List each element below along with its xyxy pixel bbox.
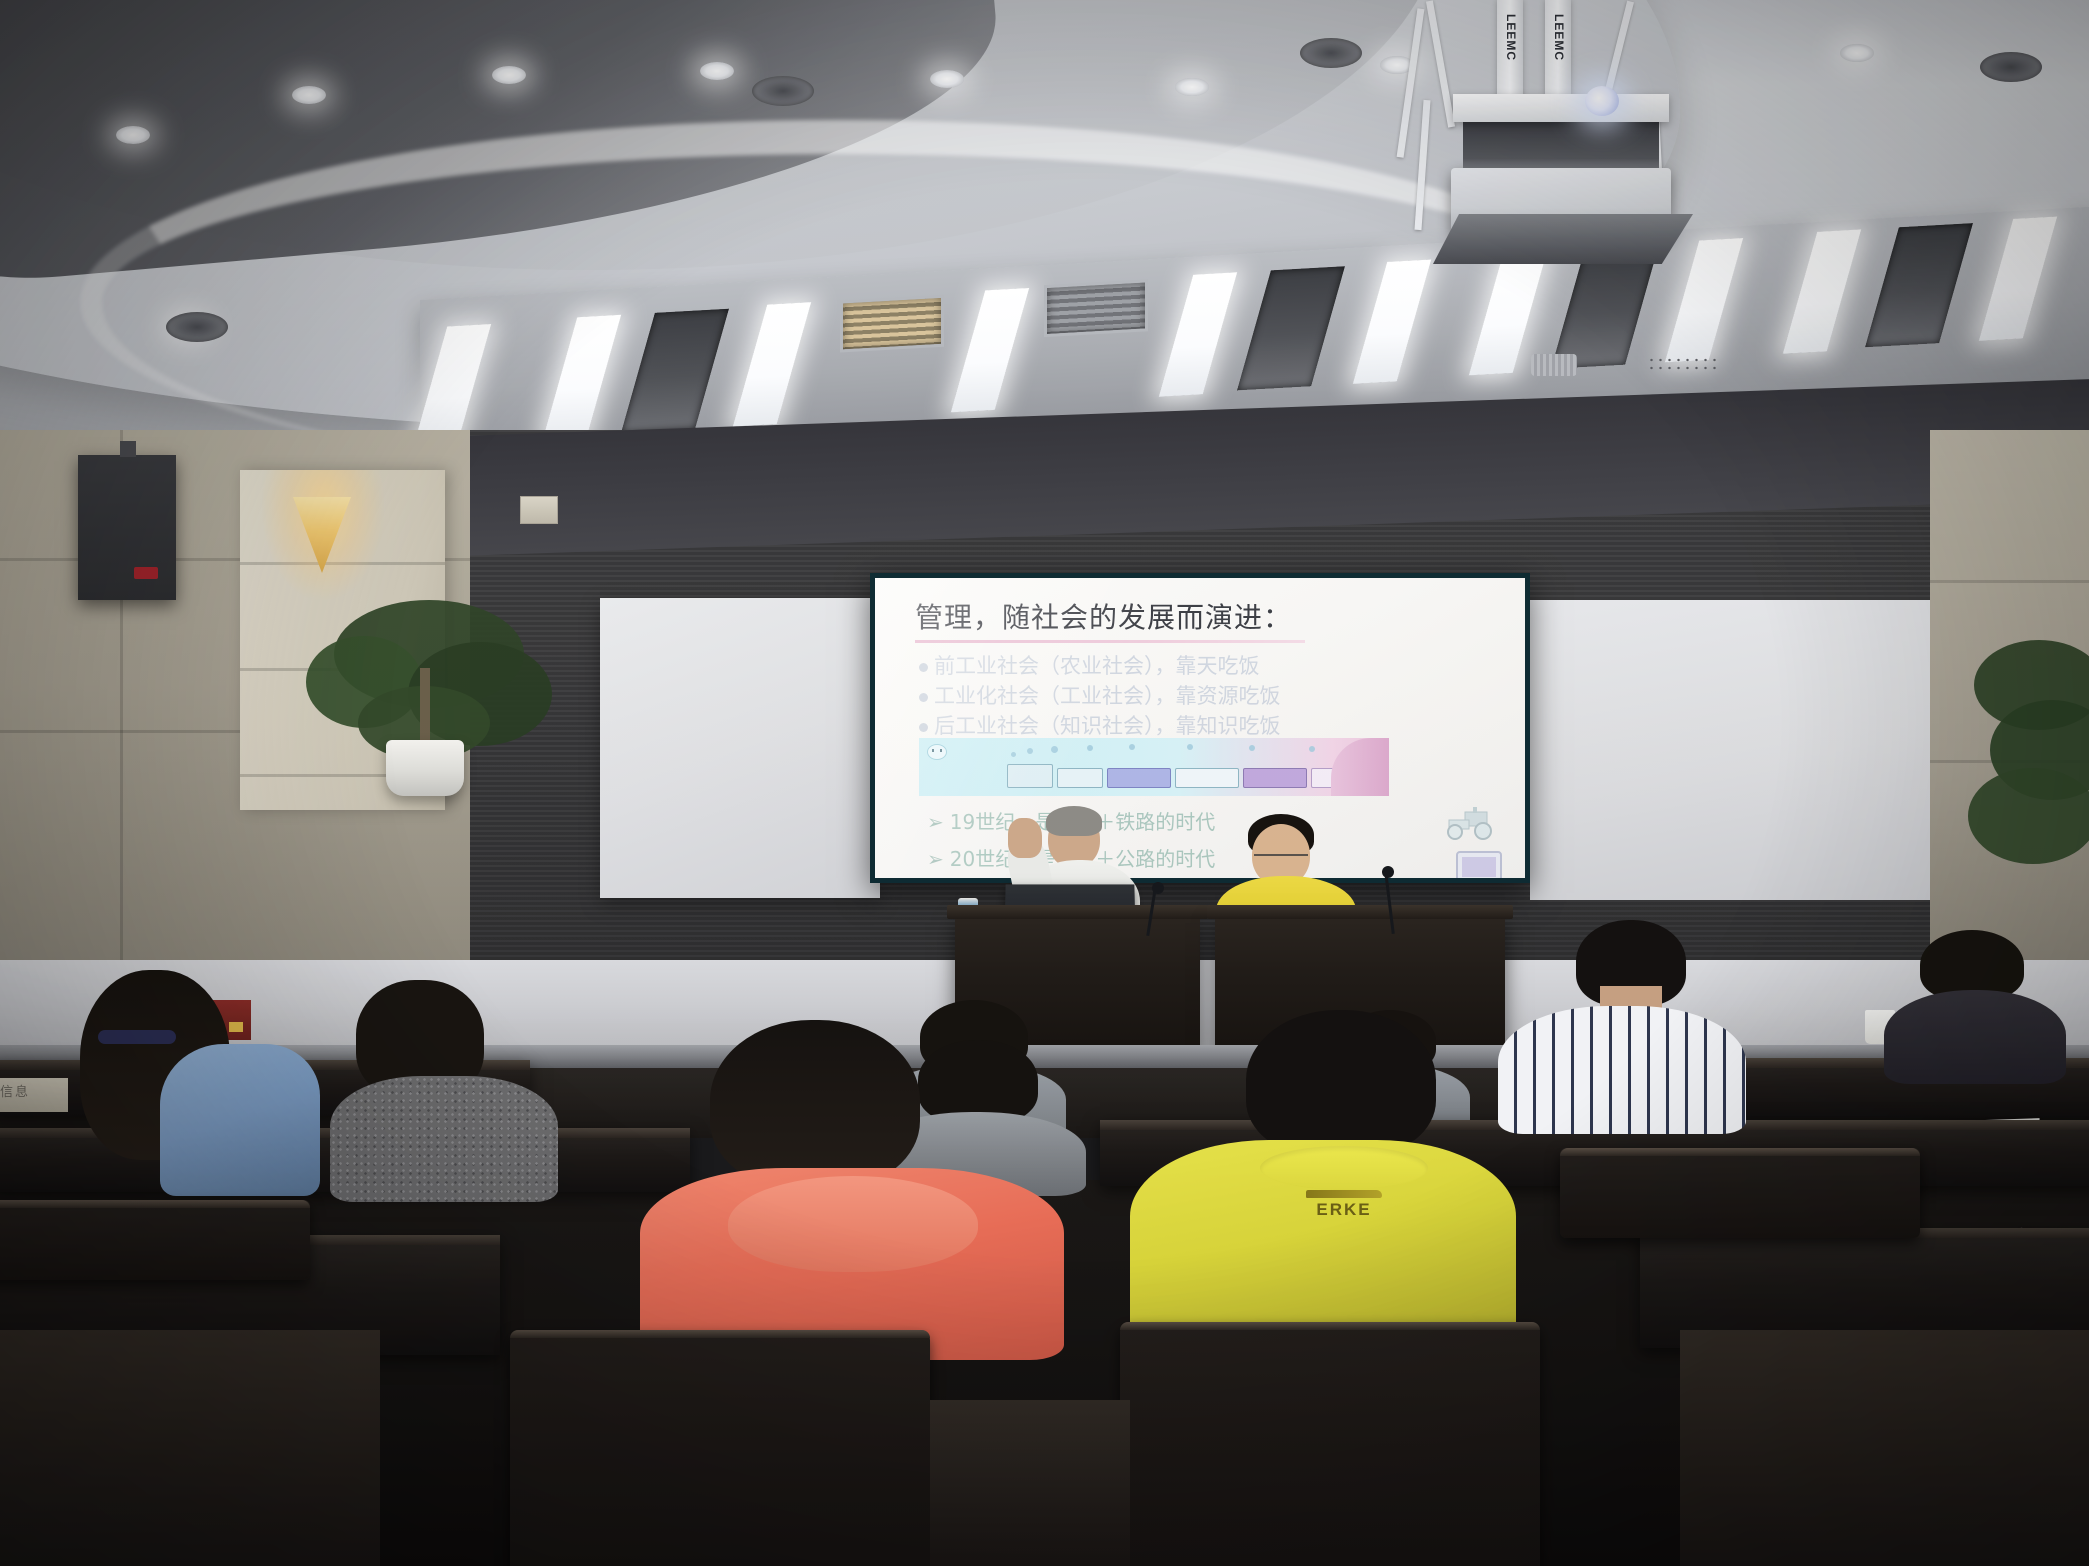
downlight-icon (1840, 44, 1874, 62)
speaker-hand (1008, 818, 1042, 858)
mic-capsule-icon (1152, 882, 1164, 894)
brand-logo-icon (1306, 1190, 1382, 1198)
attendee-yellow-tee: ERKE (1120, 1010, 1520, 1360)
ceiling-grille-lit (840, 295, 944, 353)
smiley-face-icon (927, 744, 947, 760)
projector-control-panel (1647, 356, 1717, 372)
downlight-icon (1175, 78, 1209, 96)
desk-side-panel-right (1680, 1330, 2089, 1566)
bullet-dot-icon (919, 723, 928, 732)
chair-front-center (1120, 1322, 1540, 1566)
attendee-denim-jacket (60, 970, 320, 1200)
hvac-linear-vent (166, 312, 228, 342)
downlight-icon (292, 86, 326, 104)
projection-screen-frame: 管理，随社会的发展而演进： 前工业社会（农业社会），靠天吃饭 工业化社会（工业社… (870, 573, 1530, 883)
slide-title-rule (915, 640, 1305, 643)
potted-plant-left (300, 600, 550, 796)
desk-side-panel-center (930, 1400, 1130, 1566)
tee-collar (1260, 1146, 1428, 1190)
lift-strap-left: LEEMC (1497, 0, 1523, 98)
bullet-dot-icon (919, 693, 928, 702)
hvac-linear-vent (1980, 52, 2042, 82)
projection-screen: 管理，随社会的发展而演进： 前工业社会（农业社会），靠天吃饭 工业化社会（工业社… (875, 578, 1525, 878)
slot-light-icon (951, 288, 1029, 412)
attendee-torso (330, 1076, 558, 1202)
arrow-icon: ➢ (927, 810, 944, 834)
downlight-icon (492, 66, 526, 84)
potted-plant-right (1950, 640, 2089, 890)
attendee-collar (98, 1030, 176, 1044)
nameplate-text: 信息 (0, 1078, 68, 1103)
attendee-torso (1498, 1006, 1746, 1134)
wall-control-box (520, 496, 558, 524)
downlight-icon (116, 126, 150, 144)
speaker-brand-badge (134, 567, 158, 579)
host-glasses-icon (1254, 854, 1308, 866)
lift-shroud (1433, 214, 1693, 264)
mic-capsule-icon (1382, 866, 1394, 878)
hvac-linear-vent (1865, 223, 1973, 347)
downlight-icon (700, 62, 734, 80)
slot-light-icon (733, 302, 811, 426)
slide-bullet-2: 工业化社会（工业社会），靠资源吃饭 (919, 680, 1281, 710)
attendee-torso (160, 1044, 320, 1196)
lift-scissor-arm (1426, 0, 1455, 127)
hvac-linear-vent (621, 309, 729, 433)
slide-train-illustration (919, 738, 1389, 796)
lecture-hall-photo: LEEMC LEEMC (0, 0, 2089, 1566)
slot-light-icon (1979, 216, 2057, 340)
plant-pot (386, 740, 464, 796)
desk-side-panel-left (0, 1330, 380, 1566)
hvac-linear-vent (1237, 266, 1345, 390)
speaker-hair (1046, 806, 1102, 836)
downlight-icon (930, 70, 964, 88)
chair-mid-left (0, 1200, 310, 1280)
right-white-wall-panel (1530, 600, 1930, 900)
lift-scissor-arm (1414, 100, 1430, 230)
ceiling-grille (1044, 279, 1148, 337)
tractor-icon (1443, 806, 1497, 840)
bullet-dot-icon (919, 663, 928, 672)
slot-light-icon (1159, 272, 1237, 396)
attendee-coral-hoodie (640, 1020, 1070, 1360)
slide-bullet-3-text: 后工业社会（知识社会），靠知识吃饭 (934, 714, 1281, 738)
slide-bullet-3: 后工业社会（知识社会），靠知识吃饭 (919, 710, 1281, 740)
attendee-hair (710, 1020, 920, 1188)
slot-light-icon (1783, 229, 1861, 353)
slide-bullet-2-text: 工业化社会（工业社会），靠资源吃饭 (934, 684, 1281, 708)
projector-brand-label-2: LEEMC (1552, 14, 1566, 61)
chair-mid-right (1560, 1148, 1920, 1238)
attendee-right-rear-dark (1880, 930, 2070, 1080)
hvac-linear-vent (1300, 38, 1362, 68)
slot-light-icon (1353, 259, 1431, 383)
ceiling-projector-lift: LEEMC LEEMC (1393, 0, 1693, 265)
attendee-grey-tweed-coat (330, 980, 560, 1200)
hvac-linear-vent (752, 76, 814, 106)
projector-vent-icon (1531, 354, 1577, 376)
computer-icon (1453, 850, 1505, 878)
attendee-torso (1884, 990, 2066, 1084)
slide-bullet-1-text: 前工业社会（农业社会），靠天吃饭 (934, 654, 1260, 678)
lift-scissor-arm (1603, 1, 1634, 100)
hoodie-hood (728, 1176, 978, 1272)
slide-title: 管理，随社会的发展而演进： (915, 596, 1292, 636)
projector-lens-icon (1585, 86, 1619, 116)
lift-top-plate (1453, 94, 1669, 122)
chair-front-left (510, 1330, 930, 1566)
desk-nameplate: 信息 (0, 1078, 68, 1112)
wall-speaker (78, 455, 176, 600)
attendee-hair (1246, 1010, 1436, 1156)
slide-bullet-1: 前工业社会（农业社会），靠天吃饭 (919, 650, 1260, 680)
projector-internals (1463, 122, 1659, 174)
slot-light-icon (543, 315, 621, 439)
brand-logo-label: ERKE (1306, 1200, 1382, 1220)
projector-brand-label-1: LEEMC (1504, 14, 1518, 61)
lift-strap-right: LEEMC (1545, 0, 1571, 94)
wall-whiteboard (600, 598, 880, 898)
arrow-icon: ➢ (927, 847, 944, 871)
attendee-pinstripe-shirt (1490, 920, 1750, 1130)
